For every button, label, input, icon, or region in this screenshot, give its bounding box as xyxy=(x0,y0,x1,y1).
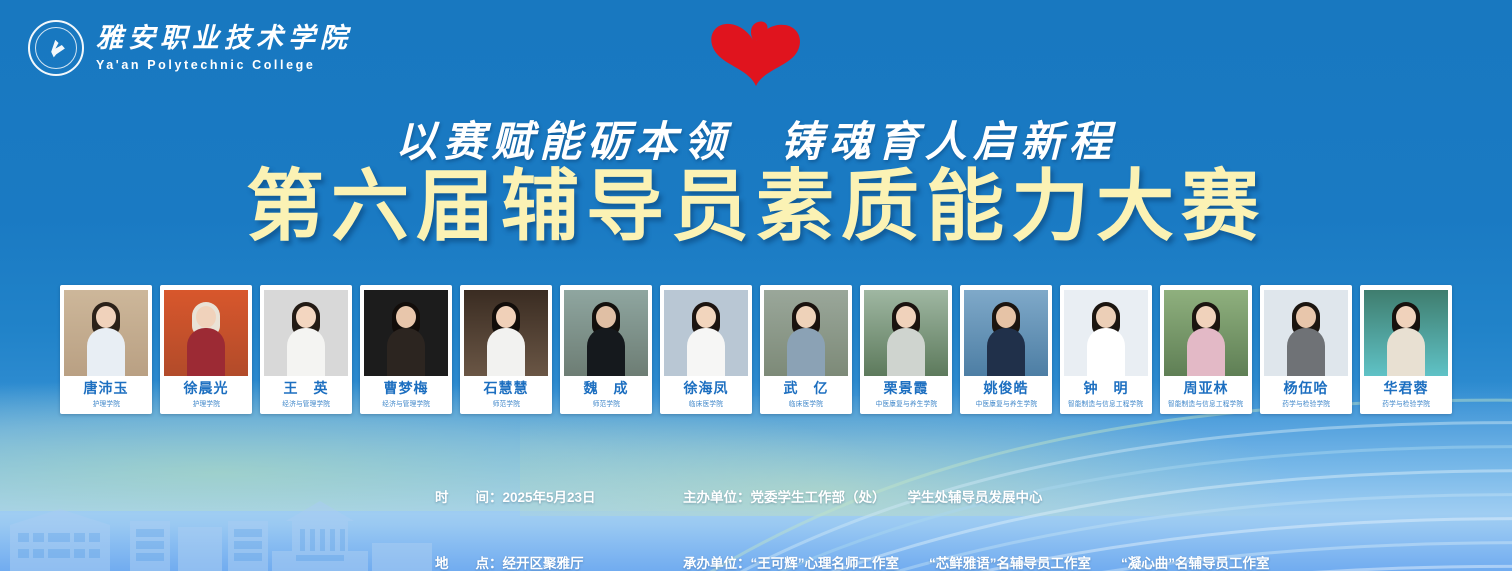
contestant-department: 中医康复与养生学院 xyxy=(875,400,937,410)
contestant-department: 经济与管理学院 xyxy=(382,400,430,410)
host-value-1: 党委学生工作部（处） xyxy=(751,490,886,505)
contestant-photo xyxy=(1164,290,1248,376)
event-time-value: 2025年5月23日 xyxy=(503,490,596,505)
contestant-department: 护理学院 xyxy=(192,400,219,410)
contestant-name: 唐沛玉 xyxy=(84,381,129,396)
contestant-photo xyxy=(64,290,148,376)
contestant-name: 徐海凤 xyxy=(684,381,729,396)
organizer-value-3: “凝心曲”名辅导员工作室 xyxy=(1121,556,1270,571)
contestant-card[interactable]: 曹梦梅 经济与管理学院 xyxy=(360,285,452,414)
contestant-photo xyxy=(1064,290,1148,376)
contestant-name: 姚俊皓 xyxy=(984,381,1029,396)
contestant-photo xyxy=(464,290,548,376)
contestant-name: 栗景霞 xyxy=(884,381,929,396)
contestant-name: 武 亿 xyxy=(784,381,829,396)
contestant-department: 药学与检验学院 xyxy=(1382,400,1430,410)
event-place-label: 地 点： xyxy=(435,553,503,571)
heart-emblem-icon xyxy=(701,12,811,90)
contestant-photo xyxy=(764,290,848,376)
contestant-card[interactable]: 栗景霞 中医康复与养生学院 xyxy=(860,285,952,414)
organizer-row: 承办单位：“王可辉”心理名师工作室“芯鲜雅语”名辅导员工作室“凝心曲”名辅导员工… xyxy=(683,553,1270,571)
contestant-card[interactable]: 徐海凤 临床医学院 xyxy=(660,285,752,414)
contestant-photo xyxy=(264,290,348,376)
contestant-department: 护理学院 xyxy=(92,400,119,410)
school-name-en: Ya'an Polytechnic College xyxy=(96,59,352,72)
event-subtitle: 以赛赋能砺本领 铸魂育人启新程 xyxy=(0,108,1512,169)
contestant-photo xyxy=(364,290,448,376)
organizer-value-2: “芯鲜雅语”名辅导员工作室 xyxy=(929,556,1091,571)
contestant-card[interactable]: 徐晨光 护理学院 xyxy=(160,285,252,414)
contestant-department: 智能制造与信息工程学院 xyxy=(1068,400,1143,410)
event-title: 第六届辅导员素质能力大赛 xyxy=(0,168,1512,246)
event-details: 时 间：2025年5月23日 地 点：经开区聚雅厅 xyxy=(435,443,596,571)
contestant-photo xyxy=(1364,290,1448,376)
contestant-name: 石慧慧 xyxy=(484,381,529,396)
contestant-card[interactable]: 武 亿 临床医学院 xyxy=(760,285,852,414)
contestant-department: 智能制造与信息工程学院 xyxy=(1168,400,1243,410)
contestant-card[interactable]: 杨伍哈 药学与检验学院 xyxy=(1260,285,1352,414)
contestant-department: 药学与检验学院 xyxy=(1282,400,1330,410)
contestant-department: 中医康复与养生学院 xyxy=(975,400,1037,410)
contestant-name: 王 英 xyxy=(284,381,329,396)
contestant-name: 周亚林 xyxy=(1184,381,1229,396)
contestant-department: 临床医学院 xyxy=(789,400,823,410)
school-seal-icon xyxy=(28,20,84,76)
organizer-label: 承办单位： xyxy=(683,556,751,571)
contestant-name: 钟 明 xyxy=(1084,381,1129,396)
event-time-row: 时 间：2025年5月23日 xyxy=(435,487,596,509)
event-time-label: 时 间： xyxy=(435,487,503,509)
contestant-department: 经济与管理学院 xyxy=(282,400,330,410)
contestant-photo xyxy=(164,290,248,376)
contestant-photo xyxy=(564,290,648,376)
contestant-card[interactable]: 华君蓉 药学与检验学院 xyxy=(1360,285,1452,414)
contestant-card[interactable]: 魏 成 师范学院 xyxy=(560,285,652,414)
contestant-card[interactable]: 王 英 经济与管理学院 xyxy=(260,285,352,414)
contestant-card[interactable]: 周亚林 智能制造与信息工程学院 xyxy=(1160,285,1252,414)
school-name: 雅安职业技术学院 Ya'an Polytechnic College xyxy=(96,25,352,72)
contestant-photo xyxy=(664,290,748,376)
school-logo: 雅安职业技术学院 Ya'an Polytechnic College xyxy=(28,20,352,76)
contestant-department: 临床医学院 xyxy=(689,400,723,410)
contestant-department: 师范学院 xyxy=(492,400,519,410)
event-place-value: 经开区聚雅厅 xyxy=(503,556,584,571)
contestant-department: 师范学院 xyxy=(592,400,619,410)
event-place-row: 地 点：经开区聚雅厅 xyxy=(435,553,596,571)
contestant-card[interactable]: 姚俊皓 中医康复与养生学院 xyxy=(960,285,1052,414)
organizer-value-1: “王可辉”心理名师工作室 xyxy=(751,556,900,571)
contestant-name: 魏 成 xyxy=(584,381,629,396)
contestant-photo xyxy=(864,290,948,376)
host-value-2: 学生处辅导员发展中心 xyxy=(908,490,1043,505)
contestant-name: 杨伍哈 xyxy=(1284,381,1329,396)
event-banner: 雅安职业技术学院 Ya'an Polytechnic College 以赛赋能砺… xyxy=(0,0,1512,571)
contestant-name: 华君蓉 xyxy=(1384,381,1429,396)
host-label: 主办单位： xyxy=(683,490,751,505)
contestant-list: 唐沛玉 护理学院 徐晨光 护理学院 王 英 经济与管理学院 xyxy=(60,285,1452,414)
host-row: 主办单位：党委学生工作部（处）学生处辅导员发展中心 xyxy=(683,487,1270,509)
contestant-name: 徐晨光 xyxy=(184,381,229,396)
contestant-photo xyxy=(964,290,1048,376)
contestant-card[interactable]: 钟 明 智能制造与信息工程学院 xyxy=(1060,285,1152,414)
contestant-name: 曹梦梅 xyxy=(384,381,429,396)
contestant-photo xyxy=(1264,290,1348,376)
contestant-card[interactable]: 唐沛玉 护理学院 xyxy=(60,285,152,414)
school-name-cn: 雅安职业技术学院 xyxy=(96,25,352,52)
organizer-details: 主办单位：党委学生工作部（处）学生处辅导员发展中心 承办单位：“王可辉”心理名师… xyxy=(683,443,1270,571)
contestant-card[interactable]: 石慧慧 师范学院 xyxy=(460,285,552,414)
